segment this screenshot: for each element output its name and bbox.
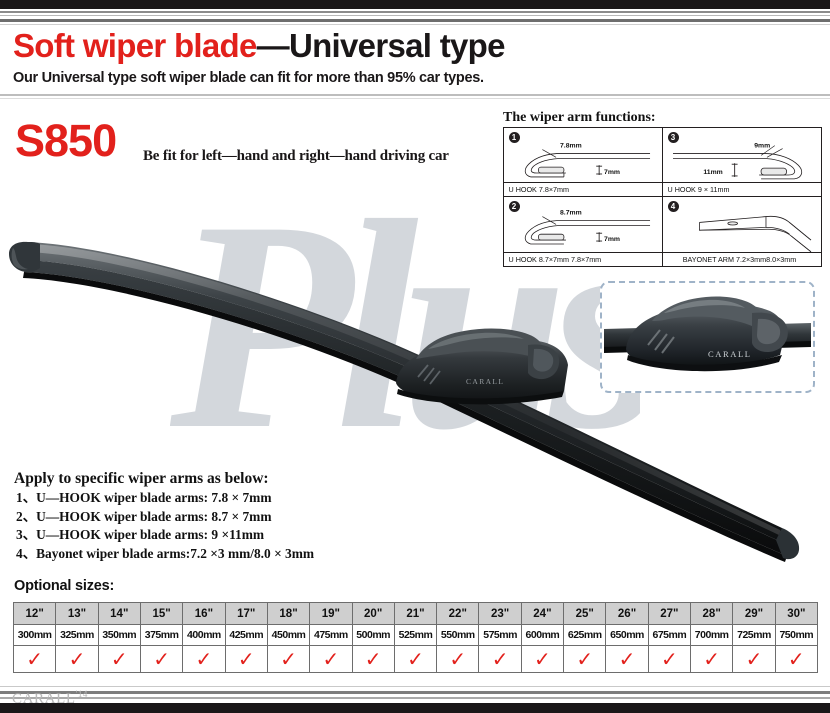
size-mm-cell: 375mm [140,625,182,646]
size-availability-cell: ✓ [691,646,733,673]
size-inch-cell: 19" [310,603,352,625]
size-inch-cell: 30" [775,603,817,625]
check-icon: ✓ [196,648,213,670]
check-icon: ✓ [238,648,255,670]
footer-rule-2 [0,691,830,694]
check-icon: ✓ [365,648,382,670]
footer-brand-name: CARALL [12,691,76,707]
size-availability-cell: ✓ [140,646,182,673]
size-mm-cell: 725mm [733,625,775,646]
top-rule-2 [0,15,830,16]
size-mm-cell: 650mm [606,625,648,646]
size-inch-cell: 26" [606,603,648,625]
diagram-3-dim-a: 9mm [754,142,770,149]
size-availability-cell: ✓ [98,646,140,673]
check-icon: ✓ [576,648,593,670]
size-inch-cell: 21" [394,603,436,625]
check-icon: ✓ [534,648,551,670]
size-mm-cell: 675mm [648,625,690,646]
size-inch-cell: 13" [56,603,98,625]
check-icon: ✓ [619,648,636,670]
size-inch-cell: 16" [183,603,225,625]
top-rule-1 [0,11,830,13]
apply-section-title: Apply to specific wiper arms as below: [14,470,269,488]
check-icon: ✓ [661,648,678,670]
size-mm-cell: 425mm [225,625,267,646]
check-icon: ✓ [69,648,86,670]
size-availability-cell: ✓ [14,646,56,673]
diagram-1-dim-b: 7mm [604,168,620,175]
size-mm-cell: 400mm [183,625,225,646]
wiper-arm-diagram-1: 1 7.8mm 7mm U HOOK 7.8×7mm [503,127,663,198]
diagram-2-caption: U HOOK 8.7×7mm 7.8×7mm [504,252,662,266]
wiper-arm-functions-grid: 1 7.8mm 7mm U HOOK 7.8×7mm 3 [503,127,821,266]
size-mm-cell: 600mm [521,625,563,646]
footer-rule-3 [0,697,830,699]
sizes-mm-row: 300mm325mm350mm375mm400mm425mm450mm475mm… [14,625,818,646]
model-code: S850 [15,118,116,163]
size-mm-cell: 450mm [267,625,309,646]
connector-closeup-inset: CARALL [600,281,815,393]
footer-brand: CARALL'14 [12,689,88,708]
size-mm-cell: 550mm [437,625,479,646]
size-availability-cell: ✓ [225,646,267,673]
size-inch-cell: 27" [648,603,690,625]
size-mm-cell: 475mm [310,625,352,646]
size-inch-cell: 17" [225,603,267,625]
top-rule-4 [0,24,830,25]
size-mm-cell: 750mm [775,625,817,646]
size-inch-cell: 24" [521,603,563,625]
title-underline-thin [0,98,830,99]
size-availability-cell: ✓ [775,646,817,673]
page-title-red: Soft wiper blade [13,27,257,64]
size-mm-cell: 525mm [394,625,436,646]
size-inch-cell: 15" [140,603,182,625]
size-availability-cell: ✓ [521,646,563,673]
size-inch-cell: 29" [733,603,775,625]
footer-rule-1 [0,686,830,687]
size-mm-cell: 350mm [98,625,140,646]
apply-list-item: 1、U—HOOK wiper blade arms: 7.8 × 7mm [16,489,446,508]
size-mm-cell: 300mm [14,625,56,646]
check-icon: ✓ [746,648,763,670]
check-icon: ✓ [26,648,43,670]
apply-list-item: 4、Bayonet wiper blade arms:7.2 ×3 mm/8.0… [16,545,446,564]
size-availability-cell: ✓ [183,646,225,673]
size-inch-cell: 23" [479,603,521,625]
size-availability-cell: ✓ [479,646,521,673]
title-underline-thick [0,94,830,96]
size-availability-cell: ✓ [606,646,648,673]
check-icon: ✓ [280,648,297,670]
size-mm-cell: 325mm [56,625,98,646]
size-inch-cell: 25" [564,603,606,625]
diagram-3-dim-b: 11mm [703,168,722,175]
sizes-availability-row: ✓✓✓✓✓✓✓✓✓✓✓✓✓✓✓✓✓✓✓ [14,646,818,673]
check-icon: ✓ [153,648,170,670]
size-inch-cell: 14" [98,603,140,625]
check-icon: ✓ [788,648,805,670]
size-inch-cell: 18" [267,603,309,625]
size-availability-cell: ✓ [394,646,436,673]
size-availability-cell: ✓ [437,646,479,673]
size-mm-cell: 575mm [479,625,521,646]
page-title: Soft wiper blade—Universal type [13,27,505,65]
check-icon: ✓ [449,648,466,670]
footer-dark-bar [0,703,830,713]
diagram-2-dim-b: 7mm [604,236,620,243]
diagram-1-dim-a: 7.8mm [560,142,582,149]
check-icon: ✓ [111,648,128,670]
size-availability-cell: ✓ [56,646,98,673]
model-tagline: Be fit for left—hand and right—hand driv… [143,148,449,165]
wiper-arm-diagram-2: 2 8.7mm 7mm U HOOK 8.7×7mm 7.8×7mm [503,196,663,267]
check-icon: ✓ [322,648,339,670]
sizes-header-row: 12"13"14"15"16"17"18"19"20"21"22"23"24"2… [14,603,818,625]
diagram-4-caption: BAYONET ARM 7.2×3mm8.0×3mm [663,252,821,266]
top-rule-3 [0,19,830,22]
size-availability-cell: ✓ [310,646,352,673]
size-mm-cell: 700mm [691,625,733,646]
check-icon: ✓ [407,648,424,670]
size-inch-cell: 12" [14,603,56,625]
size-inch-cell: 22" [437,603,479,625]
size-mm-cell: 500mm [352,625,394,646]
apply-list-item: 3、U—HOOK wiper blade arms: 9 ×11mm [16,526,446,545]
product-catalog-page: Soft wiper blade—Universal type Our Univ… [0,0,830,713]
size-inch-cell: 20" [352,603,394,625]
wiper-arm-functions-title: The wiper arm functions: [503,110,656,126]
apply-arms-list: 1、U—HOOK wiper blade arms: 7.8 × 7mm 2、U… [16,489,446,563]
size-availability-cell: ✓ [648,646,690,673]
size-inch-cell: 28" [691,603,733,625]
size-availability-cell: ✓ [267,646,309,673]
size-availability-cell: ✓ [352,646,394,673]
apply-list-item: 2、U—HOOK wiper blade arms: 8.7 × 7mm [16,508,446,527]
page-subtitle: Our Universal type soft wiper blade can … [13,70,484,86]
footer-year: '14 [76,689,88,699]
check-icon: ✓ [703,648,720,670]
wiper-arm-diagram-3: 3 9mm 11mm U HOOK 9 × 11mm [662,127,822,198]
size-mm-cell: 625mm [564,625,606,646]
top-dark-bar [0,0,830,9]
optional-sizes-table: 12"13"14"15"16"17"18"19"20"21"22"23"24"2… [13,602,818,673]
wiper-arm-diagram-4: 4 BAYONET ARM 7.2×3mm8.0×3mm [662,196,822,267]
optional-sizes-title: Optional sizes: [14,578,114,594]
diagram-1-caption: U HOOK 7.8×7mm [504,182,662,196]
size-availability-cell: ✓ [564,646,606,673]
diagram-2-dim-a: 8.7mm [560,210,582,217]
page-title-black: —Universal type [257,27,505,64]
inset-brand-text: CARALL [708,349,752,359]
diagram-3-caption: U HOOK 9 × 11mm [663,182,821,196]
blade-brand-text: CARALL [466,377,504,386]
size-availability-cell: ✓ [733,646,775,673]
check-icon: ✓ [492,648,509,670]
